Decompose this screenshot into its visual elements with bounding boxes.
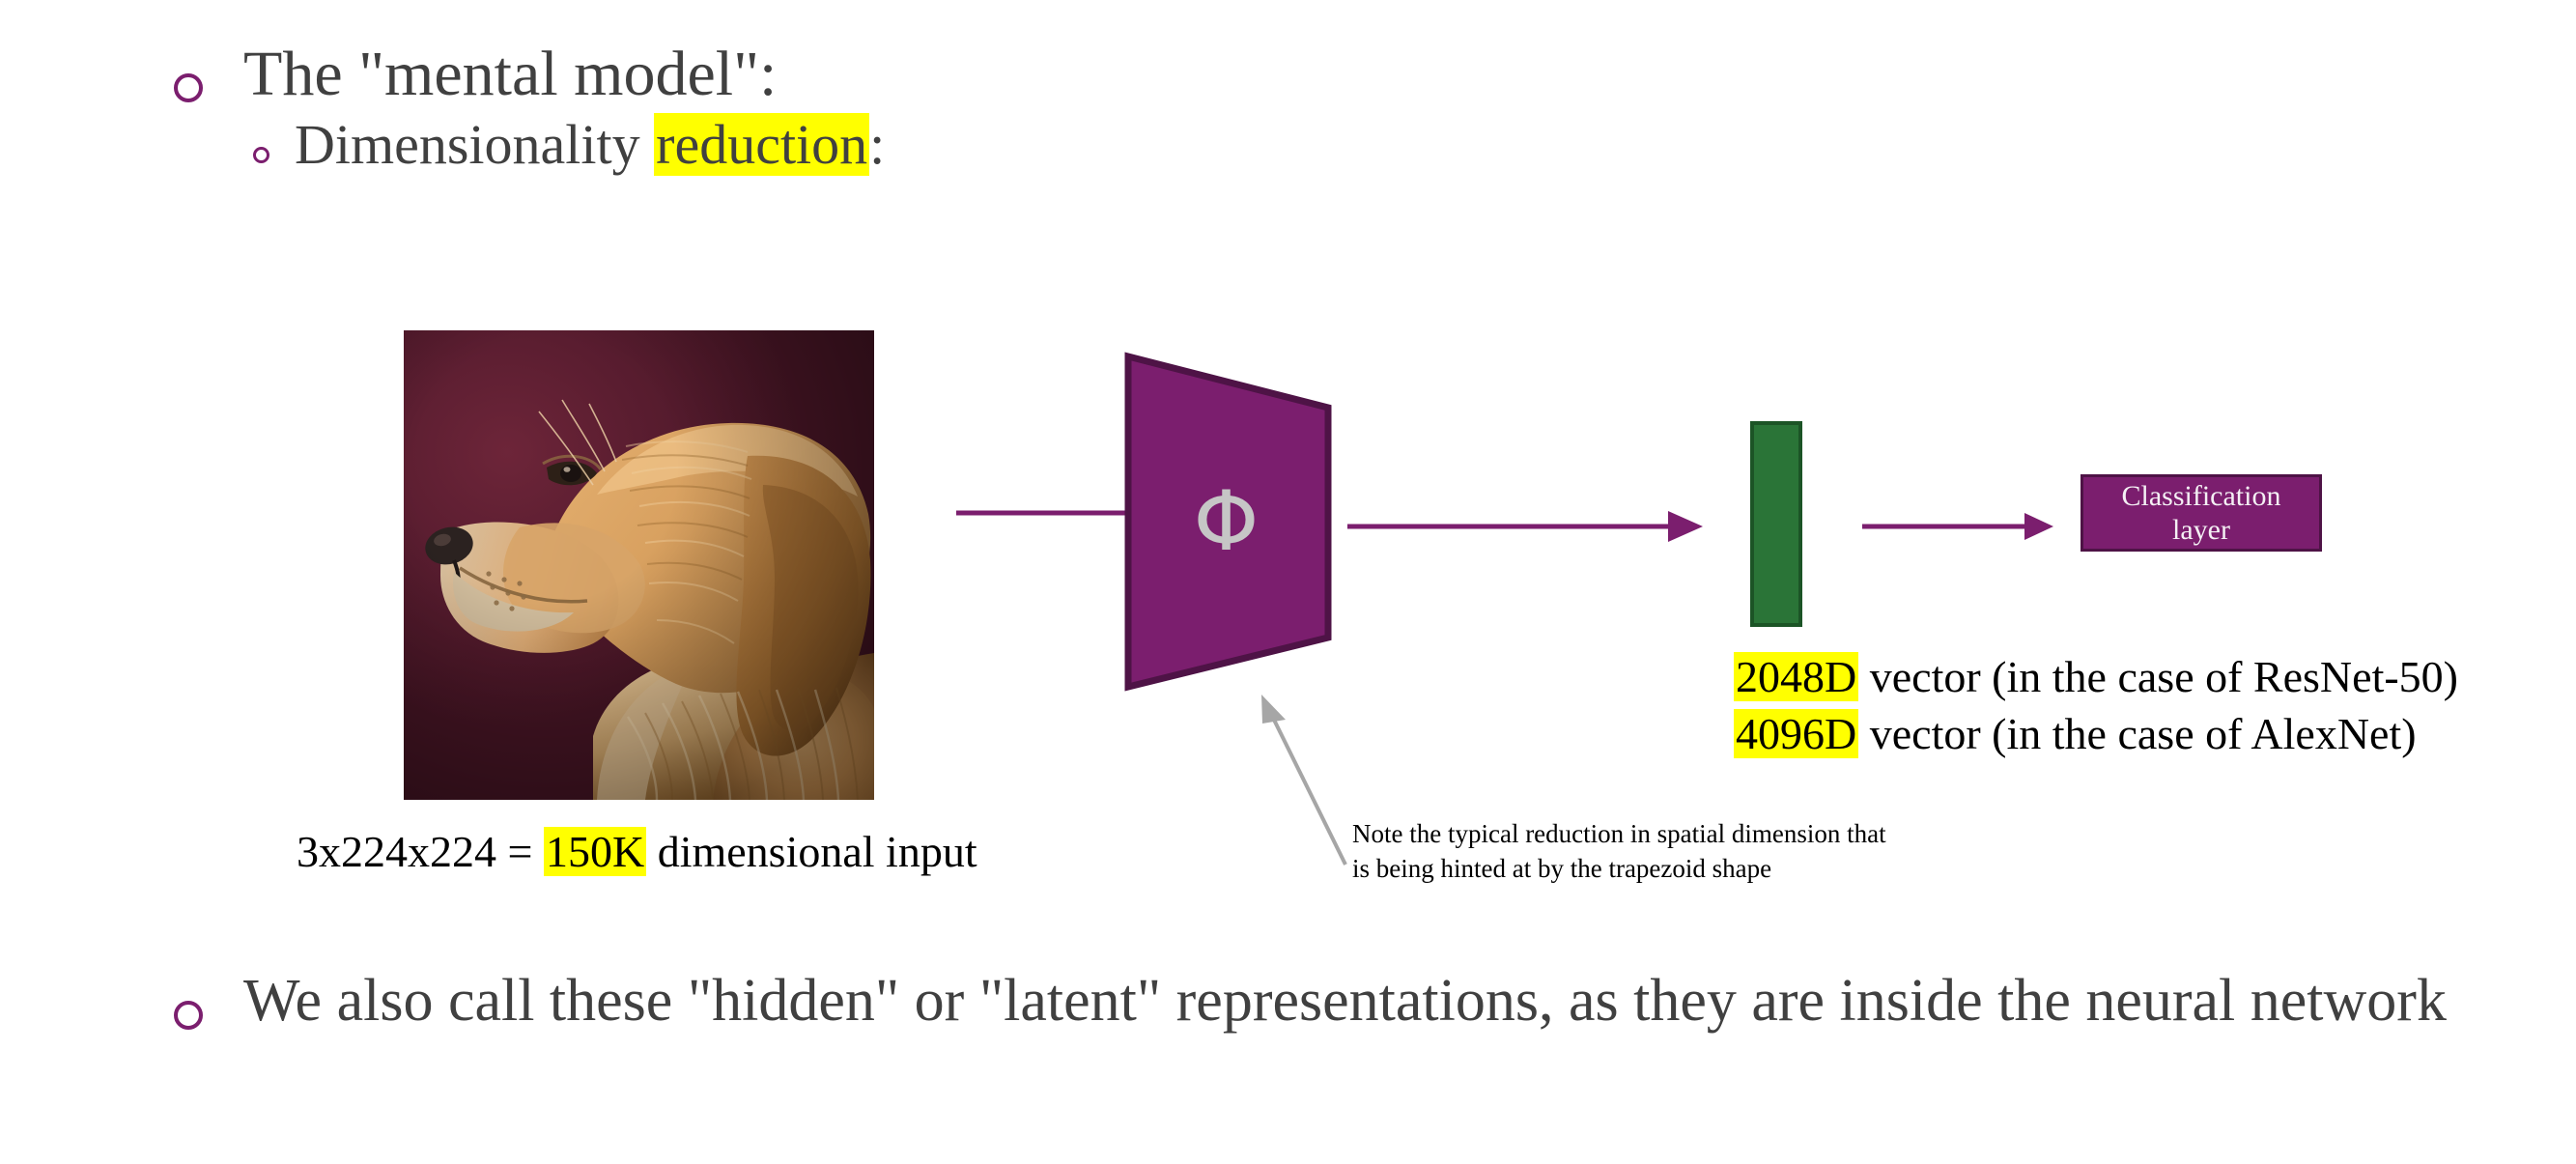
slide-canvas: The "mental model": Dimensionality reduc…: [0, 0, 2576, 1164]
note-callout-arrow-icon: [1251, 691, 1357, 869]
resnet-dim-rest: vector (in the case of ResNet-50): [1858, 652, 2458, 701]
vector-dims-line-resnet: 2048D vector (in the case of ResNet-50): [1734, 649, 2458, 706]
dimred-highlight: reduction: [654, 113, 869, 176]
dimred-suffix: :: [869, 113, 885, 176]
trapezoid-note-text: Note the typical reduction in spatial di…: [1352, 816, 1893, 886]
arrow-input-to-encoder: [956, 507, 1130, 519]
bullet-circle-icon: [174, 73, 203, 102]
alexnet-dim-highlight: 4096D: [1734, 709, 1858, 758]
phi-symbol: Φ: [1123, 352, 1354, 692]
input-dimension-caption: 3x224x224 = 150K dimensional input: [297, 826, 977, 877]
input-caption-prefix: 3x224x224 =: [297, 827, 544, 876]
arrow-vector-to-classifier: [1862, 510, 2055, 543]
photo-vignette: [404, 330, 874, 800]
bullet-dimensionality-reduction: Dimensionality reduction:: [253, 114, 885, 177]
encoder-trapezoid: Φ: [1123, 352, 1354, 692]
input-image-dog-photo: [404, 330, 874, 800]
bullet-mental-model: The "mental model":: [174, 39, 777, 110]
classification-layer-line2: layer: [2172, 513, 2230, 547]
arrow-encoder-to-vector: [1347, 507, 1705, 546]
input-caption-suffix: dimensional input: [646, 827, 977, 876]
bullet-hidden-latent-label: We also call these "hidden" or "latent" …: [243, 966, 2447, 1036]
feature-vector-bar: [1750, 421, 1802, 627]
vector-dimension-labels: 2048D vector (in the case of ResNet-50) …: [1734, 649, 2458, 763]
dimred-prefix: Dimensionality: [295, 113, 654, 176]
classification-layer-line1: Classification: [2122, 479, 2281, 513]
bullet-hidden-latent: We also call these "hidden" or "latent" …: [174, 966, 2473, 1036]
alexnet-dim-rest: vector (in the case of AlexNet): [1858, 709, 2416, 758]
bullet-dimred-label: Dimensionality reduction:: [295, 114, 885, 177]
bullet-mental-model-label: The "mental model":: [243, 39, 777, 110]
input-caption-highlight: 150K: [544, 827, 646, 876]
vector-dims-line-alexnet: 4096D vector (in the case of AlexNet): [1734, 706, 2458, 763]
bullet-circle-icon: [174, 1001, 203, 1030]
bullet-small-circle-icon: [253, 147, 269, 163]
resnet-dim-highlight: 2048D: [1734, 652, 1858, 701]
classification-layer-box: Classification layer: [2081, 474, 2322, 552]
